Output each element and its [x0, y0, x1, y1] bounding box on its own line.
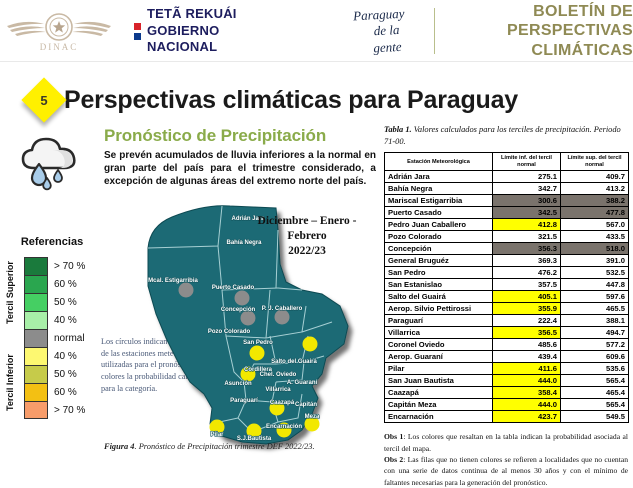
tercil-table-panel: Tabla 1. Valores calculados para los ter…: [384, 124, 630, 488]
cell-lower-limit: 356.5: [493, 327, 561, 339]
legend-color-swatch: [24, 293, 48, 311]
station-label: Mcal. Estigarribia: [148, 278, 198, 284]
legend-label: 50 %: [54, 369, 77, 380]
table-row: San Juan Bautista444.0565.4: [385, 375, 629, 387]
station-label: Asunción: [224, 381, 252, 387]
table-row: Pozo Colorado321.5433.5: [385, 231, 629, 243]
cell-lower-limit: 439.4: [493, 351, 561, 363]
cell-lower-limit: 444.0: [493, 375, 561, 387]
station-marker: [235, 291, 250, 306]
station-label: San Pedro: [243, 340, 273, 346]
table-row: Aerop. Guaraní439.4609.6: [385, 351, 629, 363]
table-row: Bahía Negra342.7413.2: [385, 183, 629, 195]
legend-item: 60 %: [24, 275, 85, 293]
cell-lower-limit: 275.1: [493, 171, 561, 183]
legend-swatch-list: > 70 %60 %50 %40 %normal40 %50 %60 %> 70…: [24, 257, 85, 419]
obs1-text: : Los colores que resaltan en la tabla i…: [384, 432, 628, 452]
flag-squares: [134, 23, 141, 40]
cell-lower-limit: 222.4: [493, 315, 561, 327]
tercil-group-labels: Tercil Superior Tercil Inferior: [2, 257, 18, 419]
forecast-body: Se prevén acumulados de lluvia inferiore…: [104, 149, 376, 189]
figure-caption-text: . Pronóstico de Precipitación trimestre …: [135, 442, 315, 451]
brand-line-2: de la gente: [346, 21, 413, 57]
cell-station: Coronel Oviedo: [385, 339, 493, 351]
table-caption-text: Valores calculados para los terciles de …: [384, 125, 621, 146]
cell-lower-limit: 405.1: [493, 291, 561, 303]
legend-item: > 70 %: [24, 401, 85, 419]
station-label: A. Guaraní: [287, 380, 318, 386]
references-title: Referencias: [2, 236, 102, 248]
legend-label: 60 %: [54, 279, 77, 290]
station-label: Paraguarí: [230, 398, 258, 404]
cell-upper-limit: 477.8: [561, 207, 629, 219]
legend-color-swatch: [24, 329, 48, 347]
cell-lower-limit: 355.9: [493, 303, 561, 315]
station-label: Pilar: [210, 432, 224, 438]
legend-label: 60 %: [54, 387, 77, 398]
gov-line-guarani: TETÃ REKUÁI: [147, 6, 281, 23]
cell-station: Villarrica: [385, 327, 493, 339]
cell-lower-limit: 444.0: [493, 399, 561, 411]
legend-label: 50 %: [54, 297, 77, 308]
dinac-logo: DINAC: [4, 3, 114, 59]
references-legend: Referencias Tercil Superior Tercil Infer…: [2, 236, 102, 419]
legend-item: 40 %: [24, 311, 85, 329]
cell-station: Concepción: [385, 243, 493, 255]
obs2-text: : Las filas que no tienen colores se ref…: [384, 455, 628, 487]
cell-station: Aerop. Guaraní: [385, 351, 493, 363]
table-row: Paraguarí222.4388.1: [385, 315, 629, 327]
cell-station: Pozo Colorado: [385, 231, 493, 243]
station-label: P. J. Caballero: [262, 306, 303, 312]
cell-lower-limit: 357.5: [493, 279, 561, 291]
figure-caption: Figura 4. Pronóstico de Precipitación tr…: [104, 442, 315, 451]
government-brand: TETÃ REKUÁI GOBIERNO NACIONAL: [134, 6, 281, 56]
cell-station: San Juan Bautista: [385, 375, 493, 387]
cell-upper-limit: 567.0: [561, 219, 629, 231]
cell-upper-limit: 391.0: [561, 255, 629, 267]
station-label: Caazapá: [270, 400, 295, 406]
cell-station: Caazapá: [385, 387, 493, 399]
legend-color-swatch: [24, 401, 48, 419]
dinac-wordmark: DINAC: [40, 42, 79, 52]
cell-upper-limit: 535.6: [561, 363, 629, 375]
cell-station: Pilar: [385, 363, 493, 375]
tercil-inferior-label: Tercil Inferior: [2, 347, 18, 419]
table-row: Villarrica356.5494.7: [385, 327, 629, 339]
cell-lower-limit: 342.5: [493, 207, 561, 219]
bulletin-title: BOLETÍN DE PERSPECTIVAS CLIMÁTICAS: [453, 2, 633, 61]
dinac-wings-icon: [4, 10, 114, 44]
cell-upper-limit: 597.6: [561, 291, 629, 303]
cell-station: Salto del Guairá: [385, 291, 493, 303]
cell-upper-limit: 388.2: [561, 195, 629, 207]
cell-upper-limit: 532.5: [561, 267, 629, 279]
cell-lower-limit: 412.8: [493, 219, 561, 231]
legend-item: 40 %: [24, 347, 85, 365]
red-square-icon: [134, 23, 141, 30]
paraguay-de-la-gente-logo: Paraguay de la gente: [345, 5, 413, 57]
cell-lower-limit: 358.4: [493, 387, 561, 399]
legend-item: > 70 %: [24, 257, 85, 275]
cell-station: Mariscal Estigarribia: [385, 195, 493, 207]
table-row: Adrián Jara275.1409.7: [385, 171, 629, 183]
page-number-badge: 5: [22, 78, 66, 122]
cell-upper-limit: 433.5: [561, 231, 629, 243]
cell-upper-limit: 518.0: [561, 243, 629, 255]
cell-upper-limit: 388.1: [561, 315, 629, 327]
cell-station: Encarnación: [385, 411, 493, 423]
table-row: Encarnación423.7549.5: [385, 411, 629, 423]
cell-station: General Bruguéz: [385, 255, 493, 267]
table-row: Pedro Juan Caballero412.8567.0: [385, 219, 629, 231]
table-row: San Estanislao357.5447.8: [385, 279, 629, 291]
header-rule: [0, 61, 633, 62]
rain-cloud-icon: [14, 128, 88, 207]
table-row: Capitán Meza444.0565.4: [385, 399, 629, 411]
cell-upper-limit: 609.6: [561, 351, 629, 363]
legend-color-swatch: [24, 311, 48, 329]
cell-lower-limit: 476.2: [493, 267, 561, 279]
obs2-label: Obs 2: [384, 455, 403, 464]
column-header-station: Estación Meteorológica: [385, 153, 493, 171]
figure-caption-label: Figura 4: [104, 442, 135, 451]
forecast-heading: Pronóstico de Precipitación: [104, 126, 376, 146]
page-number: 5: [40, 93, 47, 108]
table-row: Aerop. Silvio Pettirossi355.9465.5: [385, 303, 629, 315]
table-row: Mariscal Estigarribia300.6388.2: [385, 195, 629, 207]
legend-color-swatch: [24, 257, 48, 275]
blue-square-icon: [134, 33, 141, 40]
table-row: Puerto Casado342.5477.8: [385, 207, 629, 219]
cell-lower-limit: 423.7: [493, 411, 561, 423]
table-row: Concepción356.3518.0: [385, 243, 629, 255]
season-line-2: 2022/23: [242, 244, 372, 259]
cell-station: Capitán Meza: [385, 399, 493, 411]
station-label: Villarrica: [265, 387, 291, 393]
cell-station: San Pedro: [385, 267, 493, 279]
cell-station: Paraguarí: [385, 315, 493, 327]
tercil-table: Estación Meteorológica Límite inf. del t…: [384, 152, 629, 423]
legend-label: 40 %: [54, 351, 77, 362]
brand-line-1: Paraguay: [352, 5, 404, 23]
cell-upper-limit: 549.5: [561, 411, 629, 423]
table-observations: Obs 1: Los colores que resaltan en la ta…: [384, 431, 628, 488]
cell-upper-limit: 447.8: [561, 279, 629, 291]
main-content: Pronóstico de Precipitación Se prevén ac…: [0, 124, 633, 464]
gov-line-spanish: GOBIERNO NACIONAL: [147, 23, 281, 56]
cell-lower-limit: 300.6: [493, 195, 561, 207]
legend-item: 50 %: [24, 365, 85, 383]
cell-upper-limit: 413.2: [561, 183, 629, 195]
cell-upper-limit: 494.7: [561, 327, 629, 339]
cell-station: Puerto Casado: [385, 207, 493, 219]
station-label: Salto del Guairá: [271, 359, 317, 365]
legend-color-swatch: [24, 365, 48, 383]
column-header-lower-limit: Límite inf. del tercil normal: [493, 153, 561, 171]
cell-lower-limit: 369.3: [493, 255, 561, 267]
table-caption: Tabla 1. Valores calculados para los ter…: [384, 124, 630, 148]
cell-lower-limit: 321.5: [493, 231, 561, 243]
cell-station: Aerop. Silvio Pettirossi: [385, 303, 493, 315]
cell-lower-limit: 356.3: [493, 243, 561, 255]
season-line-1: Diciembre – Enero - Febrero: [242, 214, 372, 244]
table-row: General Bruguéz369.3391.0: [385, 255, 629, 267]
station-label: Capitán: [295, 402, 317, 408]
legend-item: 60 %: [24, 383, 85, 401]
table-row: Salto del Guairá405.1597.6: [385, 291, 629, 303]
cell-station: San Estanislao: [385, 279, 493, 291]
legend-color-swatch: [24, 383, 48, 401]
page-title: Perspectivas climáticas para Paraguay: [64, 86, 518, 115]
table-caption-label: Tabla 1.: [384, 125, 412, 134]
cell-station: Bahía Negra: [385, 183, 493, 195]
legend-color-swatch: [24, 275, 48, 293]
station-marker: [303, 337, 318, 352]
obs1-label: Obs 1: [384, 432, 403, 441]
paraguay-map: Adrián JaraBahía NegraMcal. Estigarribia…: [126, 186, 382, 448]
cell-lower-limit: 411.6: [493, 363, 561, 375]
cell-station: Pedro Juan Caballero: [385, 219, 493, 231]
legend-label: normal: [54, 333, 85, 344]
table-header-row: Estación Meteorológica Límite inf. del t…: [385, 153, 629, 171]
column-header-upper-limit: Límite sup. del tercil normal: [561, 153, 629, 171]
station-label: Pozo Colorado: [208, 329, 251, 335]
cell-upper-limit: 565.4: [561, 375, 629, 387]
precipitation-forecast-block: Pronóstico de Precipitación Se prevén ac…: [104, 126, 376, 189]
station-label: Concepción: [221, 307, 256, 313]
table-row: Caazapá358.4465.4: [385, 387, 629, 399]
cell-upper-limit: 465.5: [561, 303, 629, 315]
station-marker: [179, 283, 194, 298]
table-row: Pilar411.6535.6: [385, 363, 629, 375]
cell-upper-limit: 465.4: [561, 387, 629, 399]
page-title-row: 5 Perspectivas climáticas para Paraguay: [0, 76, 633, 124]
legend-label: > 70 %: [54, 261, 85, 272]
station-label: Puerto Casado: [212, 285, 255, 291]
legend-item: normal: [24, 329, 85, 347]
page-header: DINAC TETÃ REKUÁI GOBIERNO NACIONAL Para…: [0, 0, 633, 62]
legend-color-swatch: [24, 347, 48, 365]
legend-label: > 70 %: [54, 405, 85, 416]
legend-label: 40 %: [54, 315, 77, 326]
cell-lower-limit: 485.6: [493, 339, 561, 351]
table-row: Coronel Oviedo485.6577.2: [385, 339, 629, 351]
cell-station: Adrián Jara: [385, 171, 493, 183]
map-season-label: Diciembre – Enero - Febrero 2022/23: [242, 214, 372, 259]
table-row: San Pedro476.2532.5: [385, 267, 629, 279]
legend-item: 50 %: [24, 293, 85, 311]
cell-upper-limit: 577.2: [561, 339, 629, 351]
station-marker: [250, 346, 265, 361]
station-label: Meza: [305, 414, 320, 420]
station-label: Chel. Oviedo: [260, 372, 297, 378]
government-lines: TETÃ REKUÁI GOBIERNO NACIONAL: [147, 6, 281, 56]
station-label: Encarnación: [266, 424, 302, 430]
cell-upper-limit: 409.7: [561, 171, 629, 183]
tercil-superior-label: Tercil Superior: [2, 257, 18, 329]
cell-lower-limit: 342.7: [493, 183, 561, 195]
cell-upper-limit: 565.4: [561, 399, 629, 411]
header-divider: [434, 8, 435, 54]
